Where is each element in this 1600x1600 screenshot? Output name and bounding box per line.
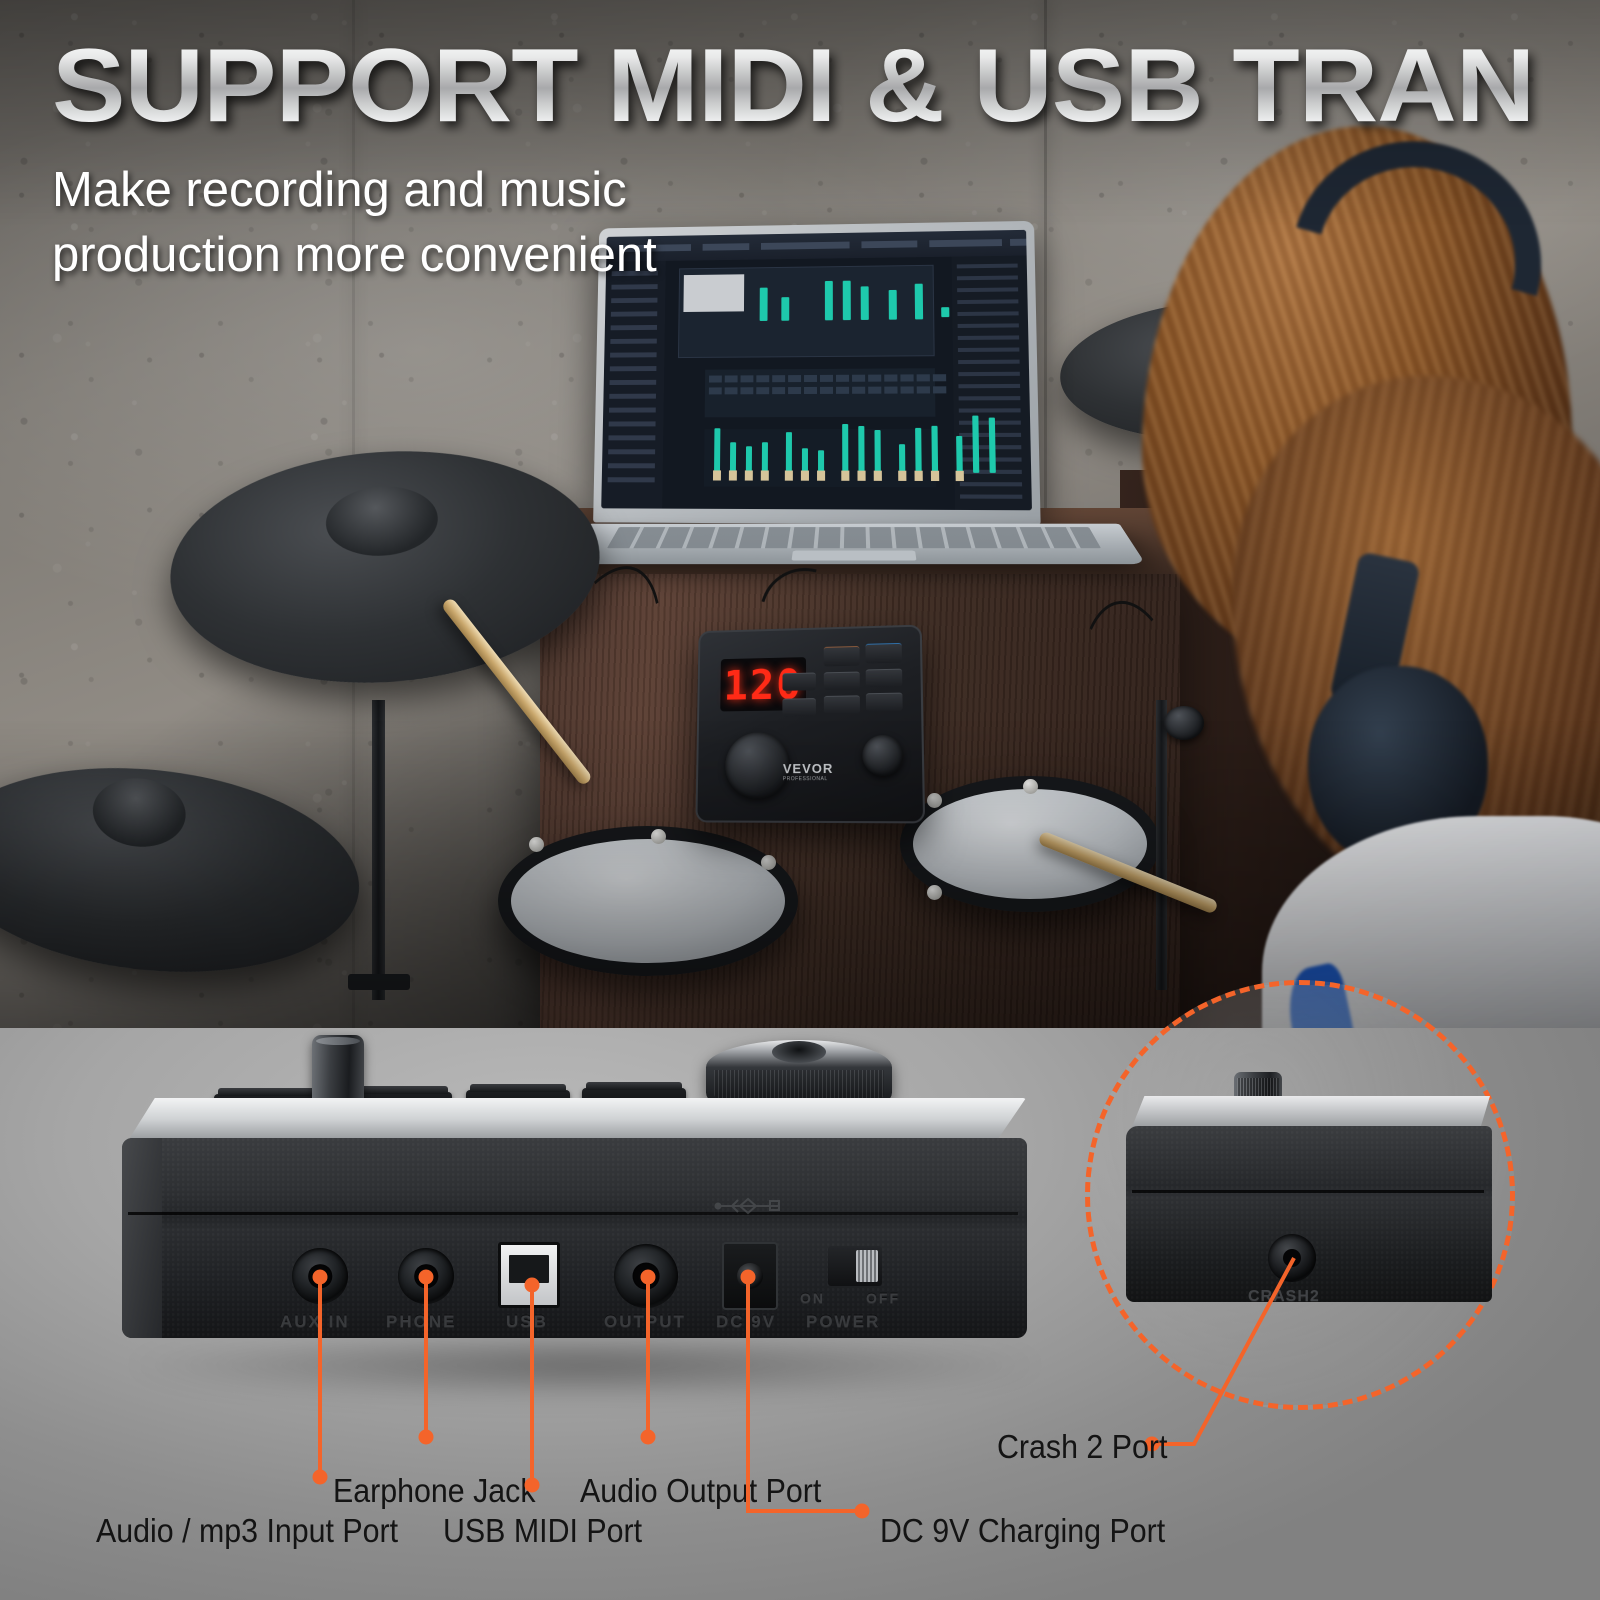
cymbal-stand (372, 700, 385, 1000)
callout-dot-output-end (641, 1430, 656, 1445)
module-button[interactable] (782, 673, 815, 691)
callout-dot-dc9v-end (855, 1504, 870, 1519)
cymbal-stand-base (348, 974, 410, 990)
daw-main-area (662, 257, 955, 510)
module-button[interactable] (782, 698, 816, 716)
module-button[interactable] (824, 695, 860, 713)
module-button[interactable] (866, 693, 903, 712)
silkscreen-power-off: OFF (866, 1290, 900, 1306)
device-rear-panel (122, 1138, 1027, 1338)
callout-label-phone: Earphone Jack (333, 1472, 536, 1510)
callout-line-phone (424, 1277, 428, 1437)
device-drop-shadow (120, 1330, 1050, 1400)
callout-label-crash2: Crash 2 Port (997, 1428, 1167, 1466)
callout-line-dc9v-horizontal (746, 1509, 864, 1513)
laptop-trackpad (792, 551, 917, 561)
silkscreen-output: OUTPUT (604, 1312, 686, 1332)
page-subheadline: Make recording and music production more… (52, 158, 872, 287)
subheadline-line-2: production more convenient (52, 223, 872, 288)
usb-icon (714, 1196, 786, 1216)
subheadline-line-1: Make recording and music (52, 158, 872, 223)
module-main-knob[interactable] (725, 732, 790, 798)
callout-label-output: Audio Output Port (580, 1472, 821, 1510)
drum-module[interactable]: 120 VEVOR PROFESSIONAL (695, 625, 925, 824)
daw-mixer (704, 429, 936, 487)
callout-dot-phone-end (419, 1430, 434, 1445)
callout-label-usb: USB MIDI Port (443, 1512, 642, 1550)
brand-logo: VEVOR PROFESSIONAL (783, 761, 834, 782)
callout-line-usb (530, 1285, 534, 1485)
laptop-keyboard-base (562, 524, 1146, 564)
daw-browser-panel (601, 261, 666, 509)
callout-label-dc9v: DC 9V Charging Port (880, 1512, 1165, 1550)
callout-line-output (646, 1277, 650, 1437)
power-switch[interactable] (828, 1246, 882, 1286)
magnified-device-seam (1132, 1190, 1484, 1193)
module-button[interactable] (865, 643, 902, 664)
silkscreen-power-on: ON (800, 1290, 825, 1306)
module-button[interactable] (866, 669, 903, 688)
callout-dot-usb-end (525, 1478, 540, 1493)
callout-dot-aux-end (313, 1470, 328, 1485)
silkscreen-usb: USB (506, 1312, 548, 1332)
product-feature-banner: 120 VEVOR PROFESSIONAL (0, 0, 1600, 1600)
usb-midi-port (498, 1242, 560, 1308)
device-left-side (122, 1138, 162, 1338)
callout-line-dc9v-vertical (746, 1277, 750, 1511)
callout-line-aux (318, 1277, 322, 1477)
silkscreen-aux-in: AUX IN (280, 1312, 350, 1332)
silkscreen-phone: PHONE (386, 1312, 456, 1332)
module-button[interactable] (824, 646, 860, 666)
device-seam (128, 1212, 1018, 1215)
laptop-keyboard (607, 527, 1101, 548)
cymbal-bell (90, 774, 189, 851)
module-button[interactable] (824, 672, 860, 691)
hero-photo-scene: 120 VEVOR PROFESSIONAL (0, 0, 1600, 1028)
daw-step-sequencer (705, 368, 936, 417)
module-volume-knob[interactable] (862, 735, 903, 776)
drummer-person (1112, 126, 1600, 1028)
callout-label-aux: Audio / mp3 Input Port (96, 1512, 398, 1550)
silkscreen-power: POWER (806, 1312, 880, 1332)
cymbal-bell (324, 483, 440, 560)
page-headline: SUPPORT MIDI & USB TRANSFER (52, 34, 1536, 138)
